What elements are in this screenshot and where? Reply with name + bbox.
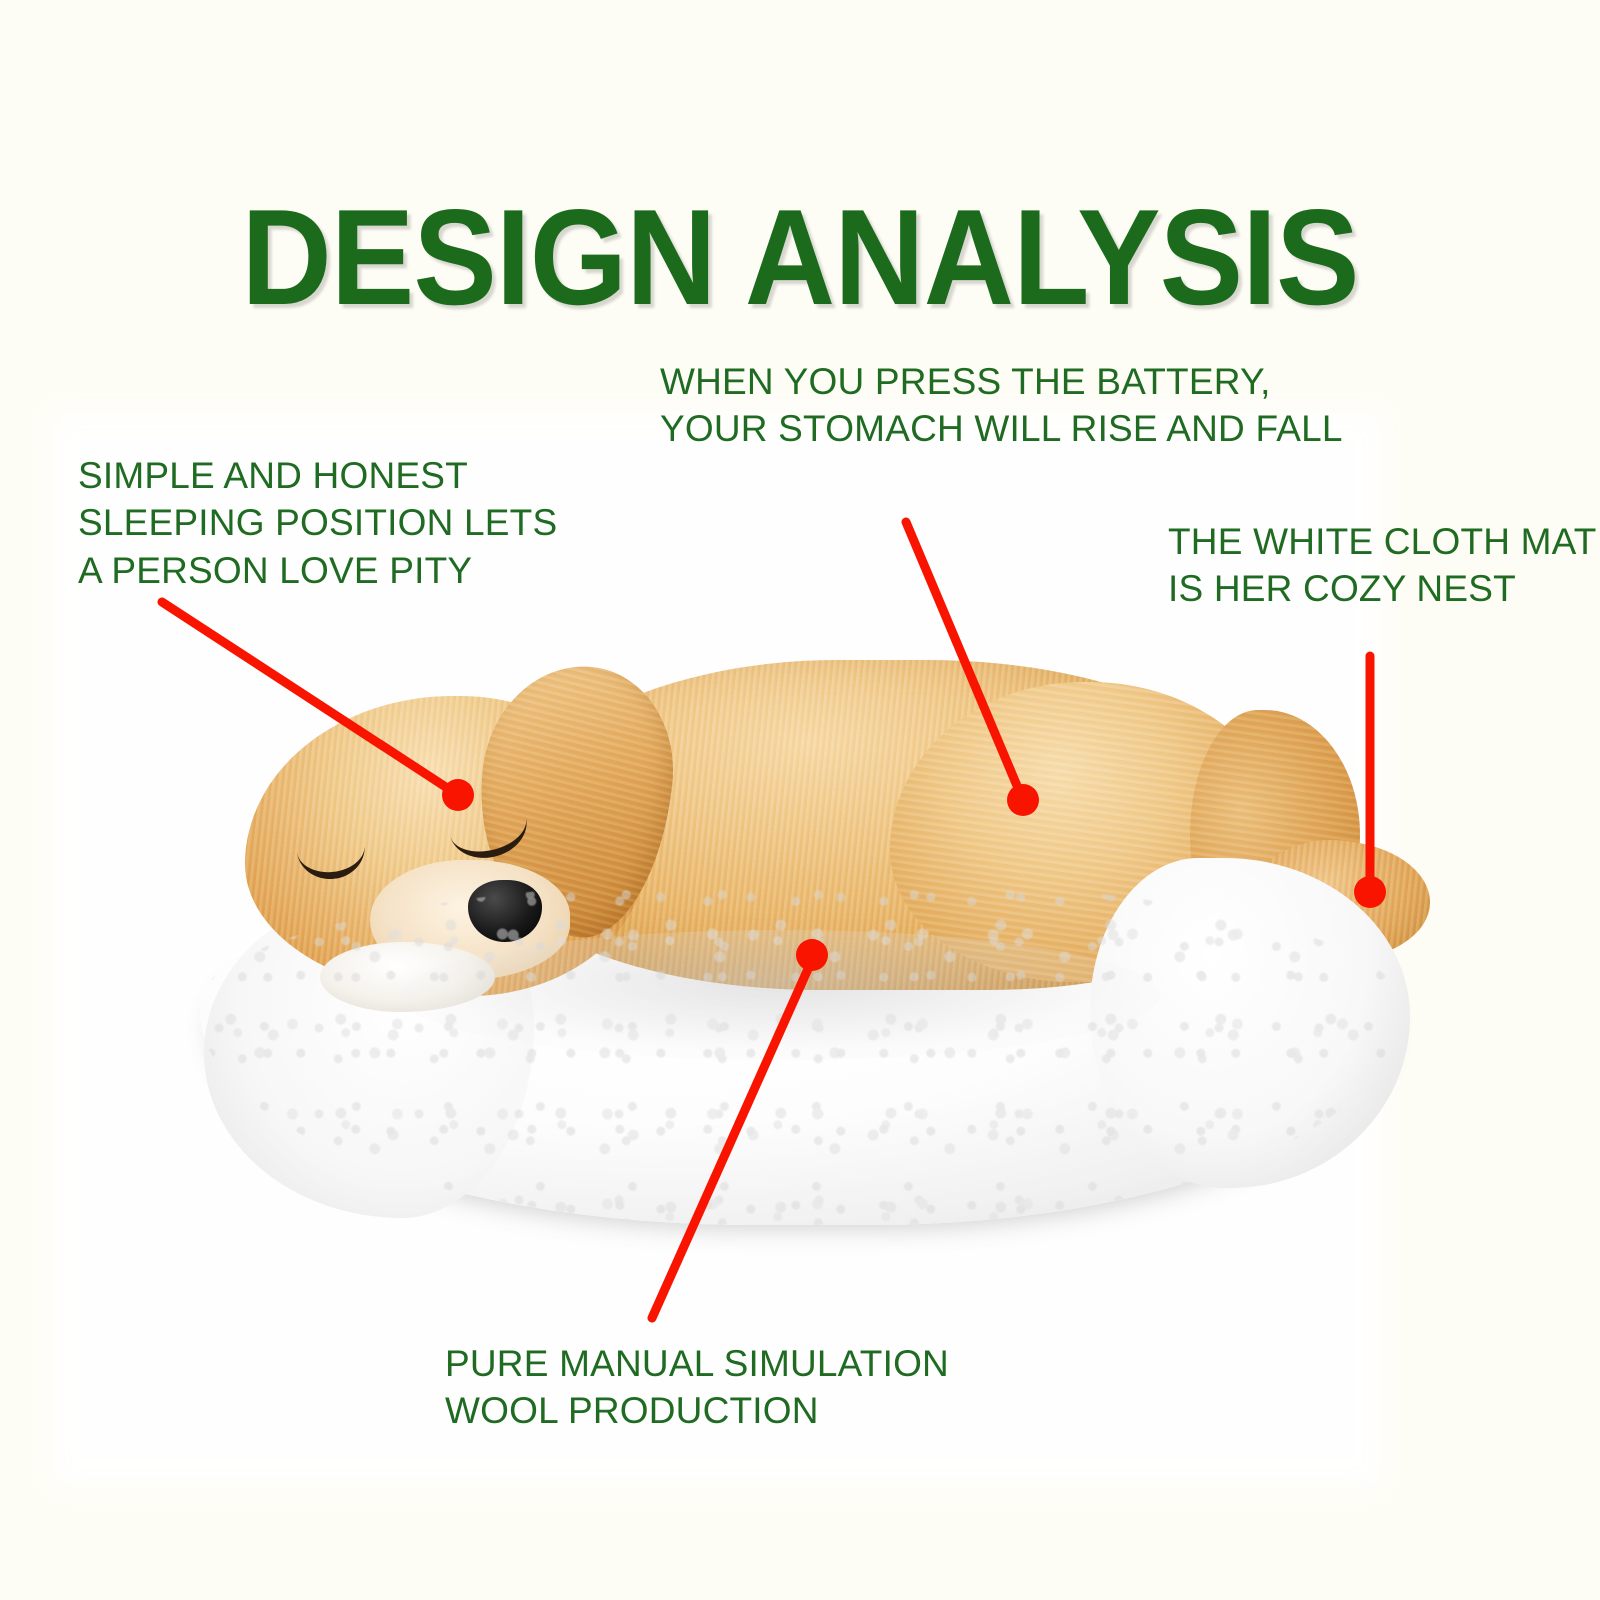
callout-pure-manual-simulation-wool: PURE MANUAL SIMULATION WOOL PRODUCTION bbox=[445, 1340, 949, 1435]
design-analysis-infographic: DESIGN ANALYSIS SIMPLE AND HONEST SLEEPI… bbox=[0, 0, 1600, 1600]
callout-simple-honest-sleeping-position: SIMPLE AND HONEST SLEEPING POSITION LETS… bbox=[78, 452, 557, 594]
product-image-sleeping-puppy-bed bbox=[190, 630, 1420, 1230]
callout-battery-stomach-rise-fall: WHEN YOU PRESS THE BATTERY, YOUR STOMACH… bbox=[660, 358, 1343, 453]
callout-white-cloth-mat-cozy-nest: THE WHITE CLOTH MAT IS HER COZY NEST bbox=[1168, 518, 1597, 613]
page-title: DESIGN ANALYSIS bbox=[64, 189, 1536, 325]
